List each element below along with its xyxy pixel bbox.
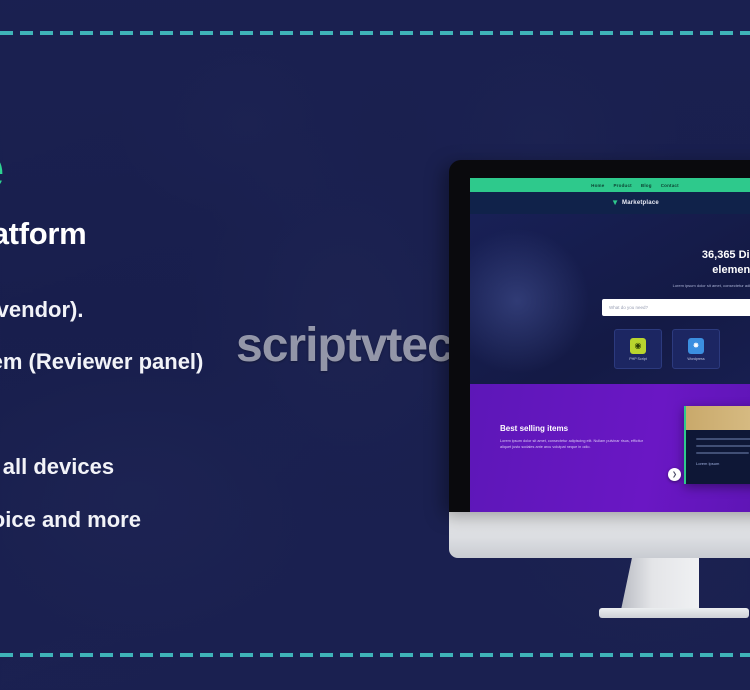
site-hero-section: 36,365 Digital p elements in 5 Lorem ips… [470,214,750,384]
best-selling-section: Best selling items Lorem ipsum dolor sit… [470,384,750,512]
dashed-divider-bottom [0,653,750,657]
marketing-copy: place etplace Platform al items (Multive… [0,138,450,558]
logo-mark-icon: ▼ [611,199,619,207]
chevron-right-icon: ❯ [672,472,677,478]
hero-title-line-2: elements in 5 [470,263,750,278]
site-logo-bar: ▼ Marketplace [470,192,750,214]
category-card-list: ◉ PHP Script ✸ Wordpress [614,329,750,369]
placeholder-line [696,445,750,447]
nav-link-contact[interactable]: Contact [661,183,679,188]
section-body-text: Lorem ipsum dolor sit amet, consectetur … [500,438,650,451]
dashed-divider-top [0,31,750,35]
category-label: Wordpress [687,357,704,361]
monitor-bezel: Home Product Blog Contact ▼ Marketplace … [449,160,750,512]
page-subtitle: etplace Platform [0,216,450,252]
feature-item: omments, invoice and more [0,506,450,534]
placeholder-line [696,452,749,454]
page-title: place [0,138,450,200]
monitor-screen: Home Product Blog Contact ▼ Marketplace … [470,178,750,512]
monitor-stand-neck [621,558,699,610]
imac-device-mockup: Home Product Blog Contact ▼ Marketplace … [449,160,750,558]
product-card[interactable]: Lorem Ipsum [684,406,750,484]
promo-banner: place etplace Platform al items (Multive… [0,0,750,690]
feature-item: al items (Multivendor). [0,296,450,324]
nav-link-home[interactable]: Home [591,183,604,188]
feature-item: badge facility. [0,401,450,429]
carousel-next-button[interactable]: ❯ [668,468,681,481]
feature-item: agement system (Reviewer panel) [0,348,450,376]
monitor-stand-base [599,608,749,618]
nav-link-blog[interactable]: Blog [641,183,652,188]
site-topbar: Home Product Blog Contact [470,178,750,192]
hero-search-input[interactable]: What do you need? [602,299,750,316]
product-card-caption: Lorem Ipsum [696,461,750,466]
category-label: PHP Script [629,357,647,361]
feature-item: work fine with all devices [0,453,450,481]
product-card-body: Lorem Ipsum [686,430,750,484]
category-card-php[interactable]: ◉ PHP Script [614,329,662,369]
hero-title-line-1: 36,365 Digital p [470,248,750,263]
product-card-thumbnail [686,406,750,430]
search-placeholder-text: What do you need? [609,305,648,310]
monitor-chin [449,512,750,558]
feature-list: al items (Multivendor). agement system (… [0,296,450,534]
hero-subtitle: Lorem ipsum dolor sit amet, consectetur … [470,283,750,289]
placeholder-line [696,438,750,440]
php-script-icon: ◉ [630,338,646,354]
logo-text: Marketplace [622,200,659,206]
wordpress-icon: ✸ [688,338,704,354]
nav-link-product[interactable]: Product [613,183,631,188]
category-card-wordpress[interactable]: ✸ Wordpress [672,329,720,369]
